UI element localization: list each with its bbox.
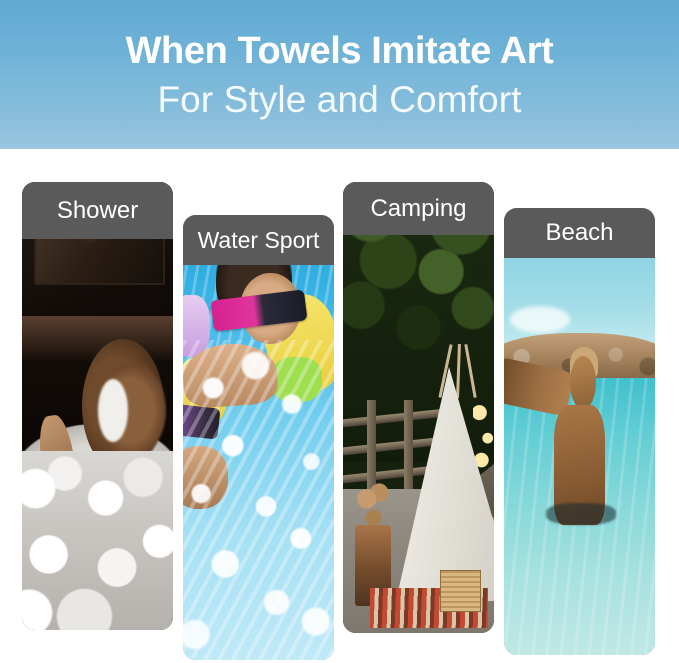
shower-scene xyxy=(22,182,173,630)
waterline xyxy=(546,503,615,525)
header-banner: When Towels Imitate Art For Style and Co… xyxy=(0,0,679,149)
fence-rail xyxy=(343,408,452,428)
card-label-camping: Camping xyxy=(370,195,466,223)
page-title: When Towels Imitate Art xyxy=(126,28,554,74)
card-header-shower: Shower xyxy=(22,182,173,239)
camping-scene xyxy=(343,182,494,633)
fence-post xyxy=(404,400,413,495)
card-header-beach: Beach xyxy=(504,208,655,258)
woven-basket xyxy=(440,570,481,613)
tent-pole xyxy=(465,345,477,399)
card-header-camping: Camping xyxy=(343,182,494,235)
water-sport-photo xyxy=(183,215,334,660)
category-card-camping[interactable]: Camping xyxy=(343,182,494,633)
water-splash xyxy=(183,340,334,660)
page-subtitle: For Style and Comfort xyxy=(157,77,521,123)
string-lights-icon xyxy=(473,398,494,470)
bath-foam xyxy=(22,451,173,630)
category-card-water-sport[interactable]: Water Sport xyxy=(183,215,334,660)
pool-scene xyxy=(183,215,334,660)
beach-photo xyxy=(504,208,655,655)
shower-photo xyxy=(22,182,173,630)
category-card-shower[interactable]: Shower xyxy=(22,182,173,630)
category-card-beach[interactable]: Beach xyxy=(504,208,655,655)
card-label-water-sport: Water Sport xyxy=(198,226,320,254)
card-label-shower: Shower xyxy=(57,197,138,225)
card-label-beach: Beach xyxy=(545,219,613,247)
camping-photo xyxy=(343,182,494,633)
head xyxy=(570,356,596,410)
tent-pole xyxy=(456,344,461,398)
beach-scene xyxy=(504,208,655,655)
card-header-water-sport: Water Sport xyxy=(183,215,334,265)
foam-on-face xyxy=(98,379,128,442)
